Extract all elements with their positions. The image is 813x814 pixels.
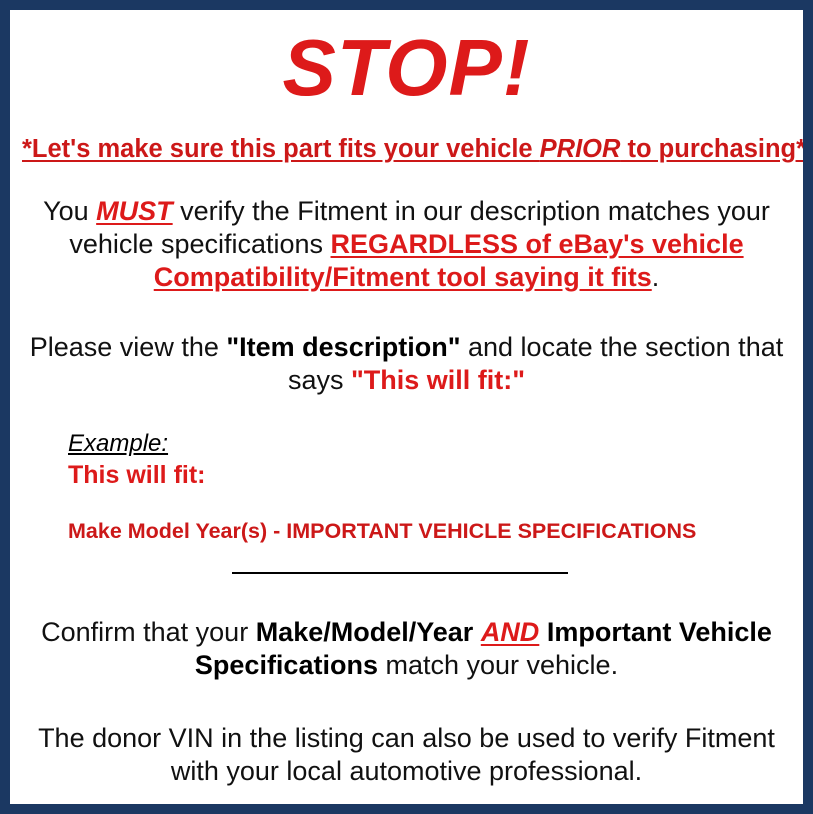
must-part-3: .: [652, 262, 660, 292]
confirm-part-4: match your vehicle.: [378, 650, 618, 680]
example-block: Example: This will fit: Make Model Year(…: [22, 430, 791, 544]
divider-wrap: [22, 568, 791, 578]
subtitle-prefix: *Let's make sure this part fits your veh…: [22, 135, 540, 163]
subtitle-prior-emphasis: PRIOR: [540, 135, 621, 163]
please-part-1: Please view the: [30, 332, 227, 362]
please-view-paragraph: Please view the "Item description" and l…: [22, 331, 791, 397]
subtitle-suffix: to purchasing*: [620, 135, 806, 163]
verify-subtitle: *Let's make sure this part fits your veh…: [22, 135, 791, 164]
confirm-paragraph: Confirm that your Make/Model/Year AND Im…: [22, 616, 791, 682]
example-spec-line: Make Model Year(s) - IMPORTANT VEHICLE S…: [68, 519, 791, 545]
confirm-part-3: [539, 617, 547, 647]
stop-headline: STOP!: [22, 28, 791, 108]
example-label: Example:: [68, 430, 791, 458]
confirm-part-1: Confirm that your: [41, 617, 256, 647]
and-emphasis: AND: [481, 617, 540, 647]
fitment-notice-card: STOP! *Let's make sure this part fits yo…: [0, 0, 813, 814]
must-part-1: You: [43, 196, 96, 226]
this-will-fit-emphasis: "This will fit:": [351, 365, 525, 395]
notice-inner: STOP! *Let's make sure this part fits yo…: [22, 28, 791, 814]
donor-vin-paragraph: The donor VIN in the listing can also be…: [22, 722, 791, 788]
make-model-year-emphasis: Make/Model/Year: [256, 617, 474, 647]
example-fit-heading: This will fit:: [68, 460, 791, 490]
must-emphasis: MUST: [96, 196, 173, 226]
must-verify-paragraph: You MUST verify the Fitment in our descr…: [22, 195, 791, 294]
section-divider: [232, 572, 568, 574]
confirm-part-2: [473, 617, 481, 647]
item-description-emphasis: "Item description": [226, 332, 460, 362]
